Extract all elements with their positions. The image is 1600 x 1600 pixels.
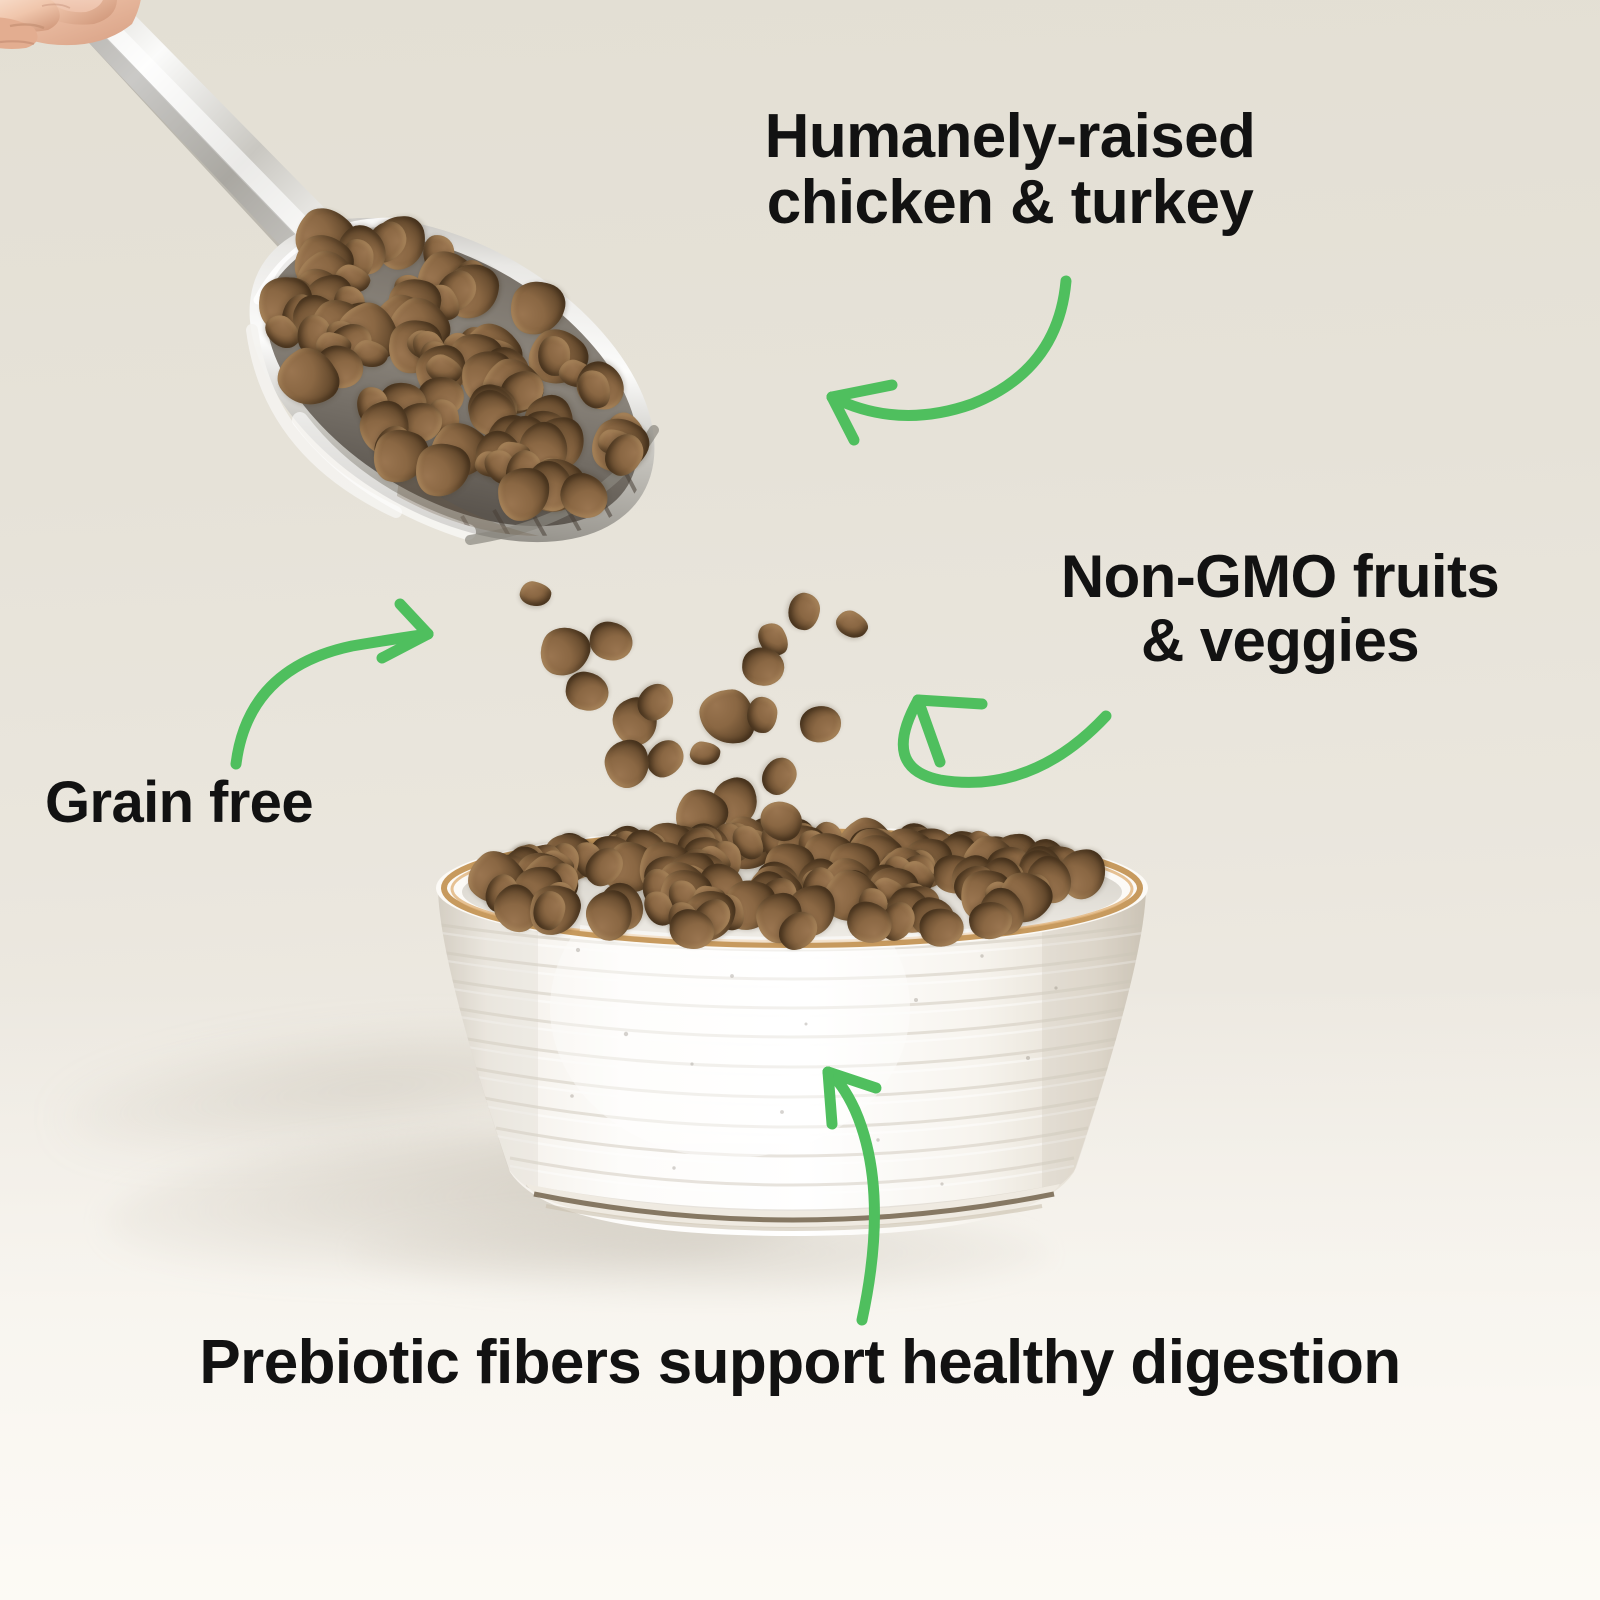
humanely-raised-line-1: Humanely-raised xyxy=(700,104,1320,170)
kibble-piece xyxy=(755,751,803,800)
kibble-in-bowl xyxy=(430,828,1154,1280)
humanely-raised-label: Humanely-raised chicken & turkey xyxy=(700,104,1320,235)
kibble-piece xyxy=(746,696,778,734)
kibble-piece xyxy=(518,579,553,609)
humanely-raised-line-2: chicken & turkey xyxy=(700,170,1320,236)
prebiotic-fibers-line-1: Prebiotic fibers support healthy digesti… xyxy=(60,1330,1540,1396)
non-gmo-line-2: & veggies xyxy=(980,609,1580,673)
grain-free-line-1: Grain free xyxy=(45,772,475,833)
kibble-piece xyxy=(796,702,844,746)
kibble-piece xyxy=(919,907,966,948)
non-gmo-line-1: Non-GMO fruits xyxy=(980,545,1580,609)
kibble-piece xyxy=(563,668,612,714)
kibble-piece xyxy=(786,591,822,632)
kibble-piece xyxy=(832,606,872,643)
prebiotic-fibers-label: Prebiotic fibers support healthy digesti… xyxy=(60,1330,1540,1396)
white-ceramic-dog-bowl xyxy=(430,828,1154,1280)
product-photo-scene: Humanely-raised chicken & turkey Non-GMO… xyxy=(0,0,1600,1600)
grain-free-label: Grain free xyxy=(45,772,475,833)
kibble-piece xyxy=(587,619,636,664)
non-gmo-label: Non-GMO fruits & veggies xyxy=(980,545,1580,672)
kibble-piece xyxy=(689,740,722,767)
kibble-piece xyxy=(600,735,655,792)
